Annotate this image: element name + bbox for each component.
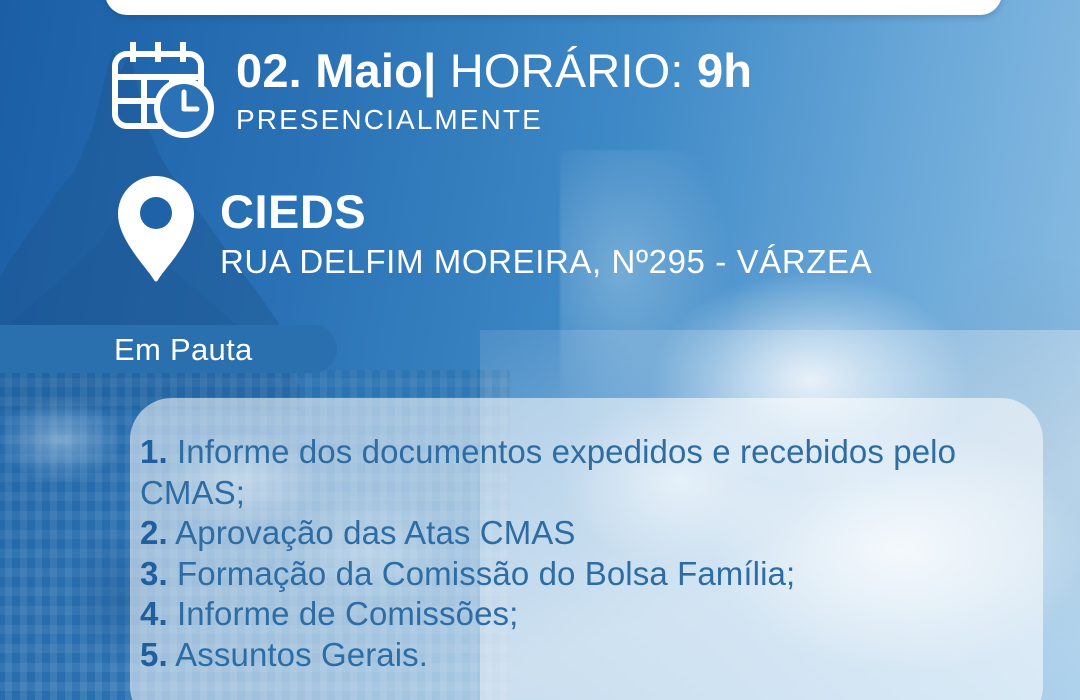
agenda-item-text: Informe de Comissões;	[168, 595, 519, 632]
location-block: CIEDS RUA DELFIM MOREIRA, Nº295 - VÁRZEA	[110, 172, 872, 284]
time-label: HORÁRIO:	[450, 44, 684, 97]
agenda-list: 1. Informe dos documentos expedidos e re…	[140, 432, 1017, 675]
date-separator: |	[423, 44, 436, 97]
date-day-label: 02. Maio	[236, 44, 423, 97]
agenda-card: 1. Informe dos documentos expedidos e re…	[130, 398, 1043, 700]
agenda-item-number: 2.	[140, 514, 168, 551]
agenda-item-number: 3.	[140, 555, 168, 592]
agenda-item: 1. Informe dos documentos expedidos e re…	[140, 432, 1017, 513]
agenda-badge: Em Pauta	[0, 325, 337, 373]
date-time-block: 02. Maio| HORÁRIO: 9h PRESENCIALMENTE	[108, 38, 752, 141]
agenda-item-number: 4.	[140, 595, 168, 632]
location-text-group: CIEDS RUA DELFIM MOREIRA, Nº295 - VÁRZEA	[220, 172, 872, 282]
time-value: 9h	[697, 44, 752, 97]
date-text-group: 02. Maio| HORÁRIO: 9h PRESENCIALMENTE	[236, 38, 752, 137]
venue-address: RUA DELFIM MOREIRA, Nº295 - VÁRZEA	[220, 242, 872, 282]
agenda-item: 4. Informe de Comissões;	[140, 594, 1017, 635]
agenda-item: 5. Assuntos Gerais.	[140, 635, 1017, 676]
agenda-item: 3. Formação da Comissão do Bolsa Família…	[140, 554, 1017, 595]
agenda-item-text: Informe dos documentos expedidos e receb…	[140, 433, 956, 511]
map-pin-icon	[110, 172, 202, 284]
calendar-clock-icon	[108, 38, 218, 141]
agenda-item-text: Aprovação das Atas CMAS	[168, 514, 576, 551]
top-white-panel	[105, 0, 1002, 15]
agenda-item-text: Formação da Comissão do Bolsa Família;	[168, 555, 795, 592]
venue-name: CIEDS	[220, 186, 872, 238]
agenda-item-number: 5.	[140, 636, 168, 673]
date-time-line: 02. Maio| HORÁRIO: 9h	[236, 44, 752, 98]
attendance-mode-label: PRESENCIALMENTE	[236, 103, 752, 137]
agenda-item: 2. Aprovação das Atas CMAS	[140, 513, 1017, 554]
agenda-item-number: 1.	[140, 433, 168, 470]
poster-canvas: 02. Maio| HORÁRIO: 9h PRESENCIALMENTE CI…	[0, 0, 1080, 700]
agenda-item-text: Assuntos Gerais.	[168, 636, 428, 673]
agenda-badge-label: Em Pauta	[0, 334, 253, 365]
